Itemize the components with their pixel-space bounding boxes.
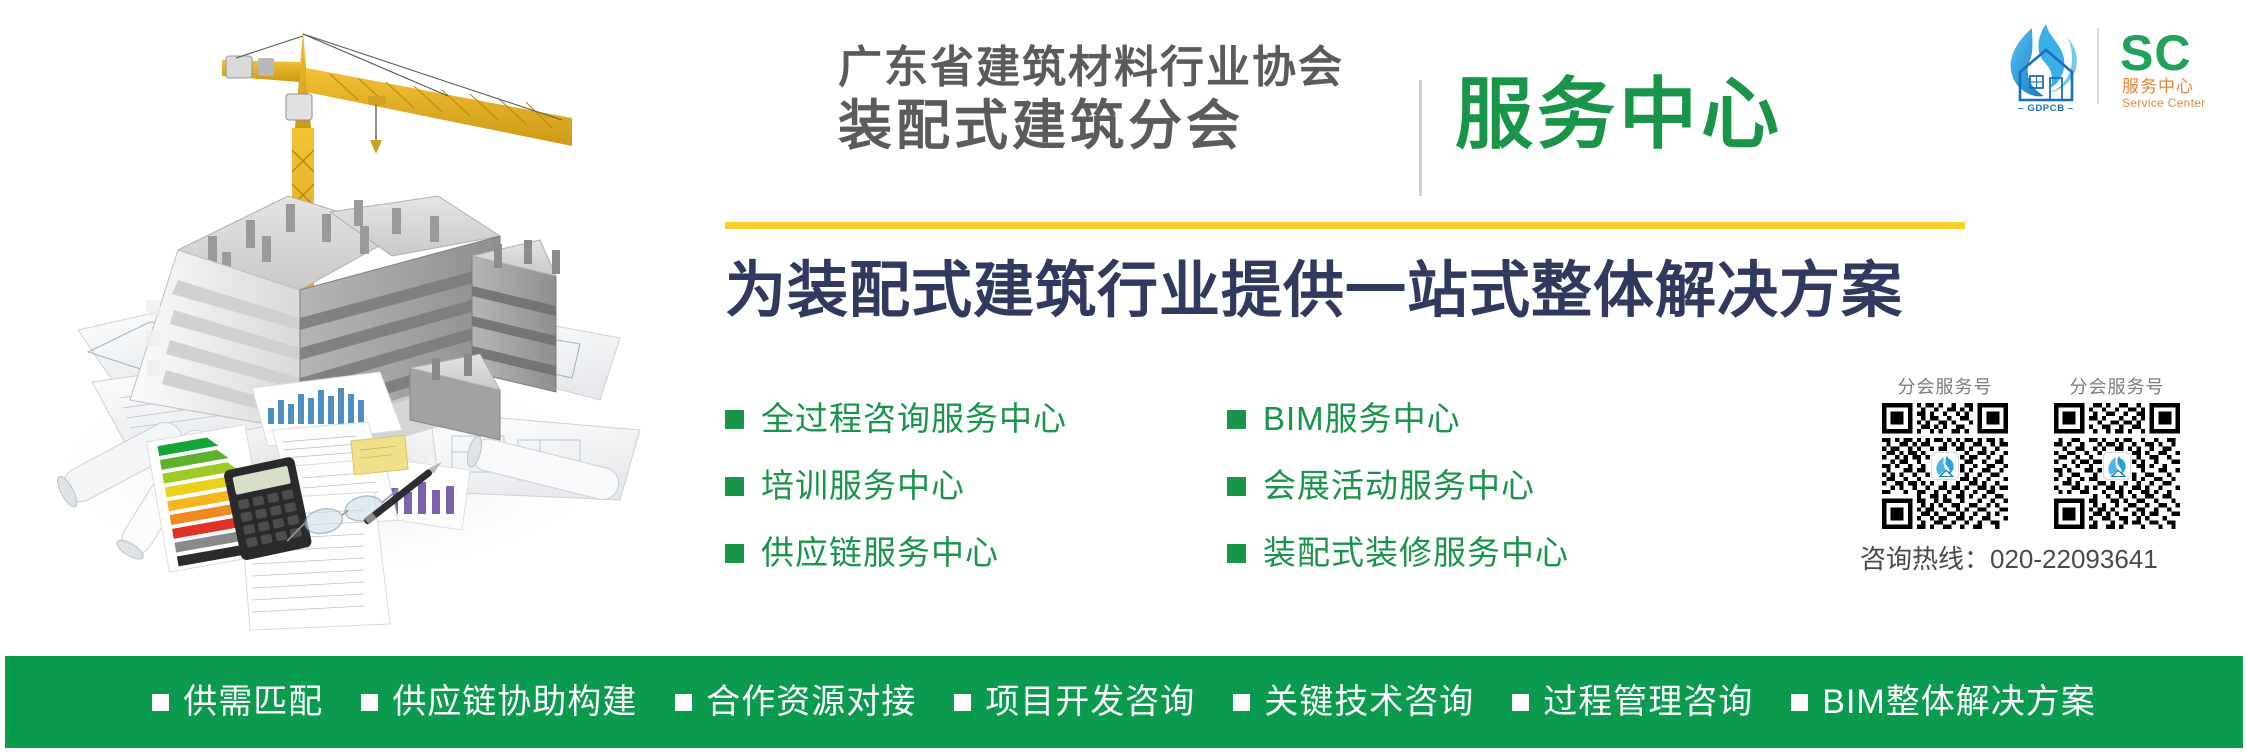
service-center-heading: 服务中心 bbox=[1455, 70, 1783, 158]
qr-label: 分会服务号 bbox=[2054, 375, 2180, 399]
square-bullet-icon bbox=[1233, 694, 1250, 711]
bar-item-label: 合作资源对接 bbox=[706, 682, 916, 722]
banner-root: 广东省建筑材料行业协会 装配式建筑分会 服务中心 为装配式建筑行业提供一站式整体… bbox=[0, 0, 2246, 752]
hotline-text: 咨询热线：020-22093641 bbox=[1858, 539, 2238, 576]
square-bullet-icon bbox=[675, 694, 692, 711]
qr-label: 分会服务号 bbox=[1882, 375, 2008, 399]
logo-sc-chinese: 服务中心 bbox=[2122, 77, 2194, 96]
bar-item[interactable]: BIM整体解决方案 bbox=[1791, 682, 2095, 722]
service-item-label: 装配式装修服务中心 bbox=[1263, 534, 1569, 572]
square-bullet-icon bbox=[152, 694, 169, 711]
bar-item-label: 项目开发咨询 bbox=[985, 682, 1195, 722]
bar-item-label: BIM整体解决方案 bbox=[1822, 682, 2095, 722]
bar-item[interactable]: 过程管理咨询 bbox=[1512, 682, 1753, 722]
square-bullet-icon bbox=[725, 544, 744, 563]
sticky-note bbox=[351, 435, 408, 474]
construction-illustration bbox=[0, 0, 660, 645]
brand-logo[interactable]: – GDPCB – SC 服务中心 Service Center bbox=[1990, 14, 2230, 114]
bar-item-label: 供需匹配 bbox=[183, 682, 323, 722]
service-item[interactable]: 会展活动服务中心 bbox=[1227, 467, 1569, 505]
bar-item[interactable]: 关键技术咨询 bbox=[1233, 682, 1474, 722]
square-bullet-icon bbox=[1227, 477, 1246, 496]
square-bullet-icon bbox=[1512, 694, 1529, 711]
square-bullet-icon bbox=[954, 694, 971, 711]
bar-item[interactable]: 供需匹配 bbox=[152, 682, 323, 722]
logo-sc-text: SC bbox=[2120, 25, 2191, 81]
service-item-label: 培训服务中心 bbox=[761, 467, 965, 505]
tagline: 为装配式建筑行业提供一站式整体解决方案 bbox=[725, 252, 1985, 328]
service-item-label: 供应链服务中心 bbox=[761, 534, 999, 572]
yellow-divider-rule bbox=[725, 222, 1965, 229]
logo-mark-text: – GDPCB – bbox=[2018, 103, 2074, 114]
square-bullet-icon bbox=[361, 694, 378, 711]
service-centers-list: 全过程咨询服务中心 培训服务中心 供应链服务中心 BIM服务中心 会展活动服务中… bbox=[725, 400, 1825, 572]
logo-sc-english: Service Center bbox=[2122, 96, 2206, 110]
service-item[interactable]: 装配式装修服务中心 bbox=[1227, 534, 1569, 572]
qr-contact-block: 分会服务号 分会服务号 bbox=[1858, 375, 2238, 576]
service-item-label: 会展活动服务中心 bbox=[1263, 467, 1535, 505]
bar-item[interactable]: 供应链协助构建 bbox=[361, 682, 637, 722]
square-bullet-icon bbox=[1791, 694, 1808, 711]
association-name-line-2: 装配式建筑分会 bbox=[838, 94, 1344, 158]
association-name-line-1: 广东省建筑材料行业协会 bbox=[838, 42, 1344, 94]
service-column-right: BIM服务中心 会展活动服务中心 装配式装修服务中心 bbox=[1227, 400, 1569, 572]
qr-code-2[interactable] bbox=[2054, 403, 2180, 529]
qr-code-1[interactable] bbox=[1882, 403, 2008, 529]
title-vertical-divider bbox=[1419, 80, 1422, 196]
service-item[interactable]: 供应链服务中心 bbox=[725, 534, 1067, 572]
square-bullet-icon bbox=[1227, 410, 1246, 429]
service-item[interactable]: BIM服务中心 bbox=[1227, 400, 1569, 438]
qr-codes-row bbox=[1858, 403, 2238, 529]
gdpcb-mark bbox=[2011, 24, 2077, 100]
service-item[interactable]: 培训服务中心 bbox=[725, 467, 1067, 505]
bottom-service-bar: 供需匹配 供应链协助构建 合作资源对接 项目开发咨询 关键技术咨询 过程管理咨询… bbox=[5, 656, 2243, 748]
bar-item[interactable]: 项目开发咨询 bbox=[954, 682, 1195, 722]
service-item-label: 全过程咨询服务中心 bbox=[761, 400, 1067, 438]
header-title-block: 广东省建筑材料行业协会 装配式建筑分会 服务中心 bbox=[725, 42, 1965, 207]
service-item-label: BIM服务中心 bbox=[1263, 400, 1461, 438]
square-bullet-icon bbox=[725, 477, 744, 496]
qr-labels-row: 分会服务号 分会服务号 bbox=[1858, 375, 2238, 399]
association-name: 广东省建筑材料行业协会 装配式建筑分会 bbox=[838, 42, 1344, 158]
service-column-left: 全过程咨询服务中心 培训服务中心 供应链服务中心 bbox=[725, 400, 1067, 572]
bar-item-label: 过程管理咨询 bbox=[1543, 682, 1753, 722]
bar-item-label: 关键技术咨询 bbox=[1264, 682, 1474, 722]
bar-item[interactable]: 合作资源对接 bbox=[675, 682, 916, 722]
square-bullet-icon bbox=[1227, 544, 1246, 563]
bar-item-label: 供应链协助构建 bbox=[392, 682, 637, 722]
service-item[interactable]: 全过程咨询服务中心 bbox=[725, 400, 1067, 438]
square-bullet-icon bbox=[725, 410, 744, 429]
